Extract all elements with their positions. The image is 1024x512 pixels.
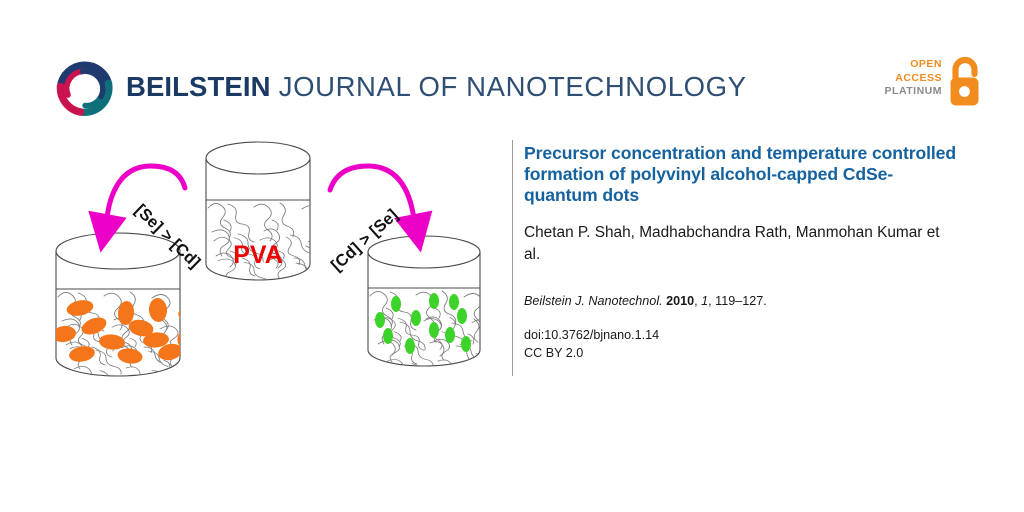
open-access-badge: OPEN ACCESS PLATINUM (884, 56, 988, 112)
wordmark-beilstein: BEILSTEIN (126, 71, 271, 102)
masthead: BEILSTEIN JOURNAL OF NANOTECHNOLOGY OPEN… (0, 0, 1024, 132)
open-access-line-open: OPEN (885, 58, 942, 72)
open-access-line-platinum: PLATINUM (885, 85, 942, 99)
open-access-label-group: OPEN ACCESS PLATINUM (885, 58, 942, 99)
beilstein-swirl-logo-icon (52, 56, 118, 122)
article-metadata: Precursor concentration and temperature … (524, 143, 960, 362)
citation-journal: Beilstein J. Nanotechnol. (524, 294, 663, 308)
open-access-line-access: ACCESS (885, 72, 942, 86)
article-authors: Chetan P. Shah, Madhabchandra Rath, Manm… (524, 222, 960, 266)
open-lock-icon (946, 56, 988, 110)
wordmark-journal-of-nanotechnology (271, 71, 279, 102)
journal-cover-page: BEILSTEIN JOURNAL OF NANOTECHNOLOGY OPEN… (0, 0, 1024, 512)
wordmark-subtitle: JOURNAL OF NANOTECHNOLOGY (279, 71, 747, 102)
content-divider (512, 140, 513, 376)
beaker-green-quantum-dots (368, 236, 490, 379)
citation-year: 2010 (666, 294, 694, 308)
article-doi[interactable]: doi:10.3762/bjnano.1.14 (524, 326, 960, 344)
article-title[interactable]: Precursor concentration and temperature … (524, 143, 960, 206)
journal-wordmark: BEILSTEIN JOURNAL OF NANOTECHNOLOGY (126, 70, 747, 104)
citation-pages: 119–127. (715, 294, 767, 308)
pva-label: PVA (233, 241, 283, 269)
article-citation: Beilstein J. Nanotechnol. 2010, 1, 119–1… (524, 293, 960, 310)
graphical-abstract: PVA (30, 136, 500, 390)
article-license[interactable]: CC BY 2.0 (524, 344, 960, 362)
beaker-pva-polymer: PVA (206, 142, 326, 297)
